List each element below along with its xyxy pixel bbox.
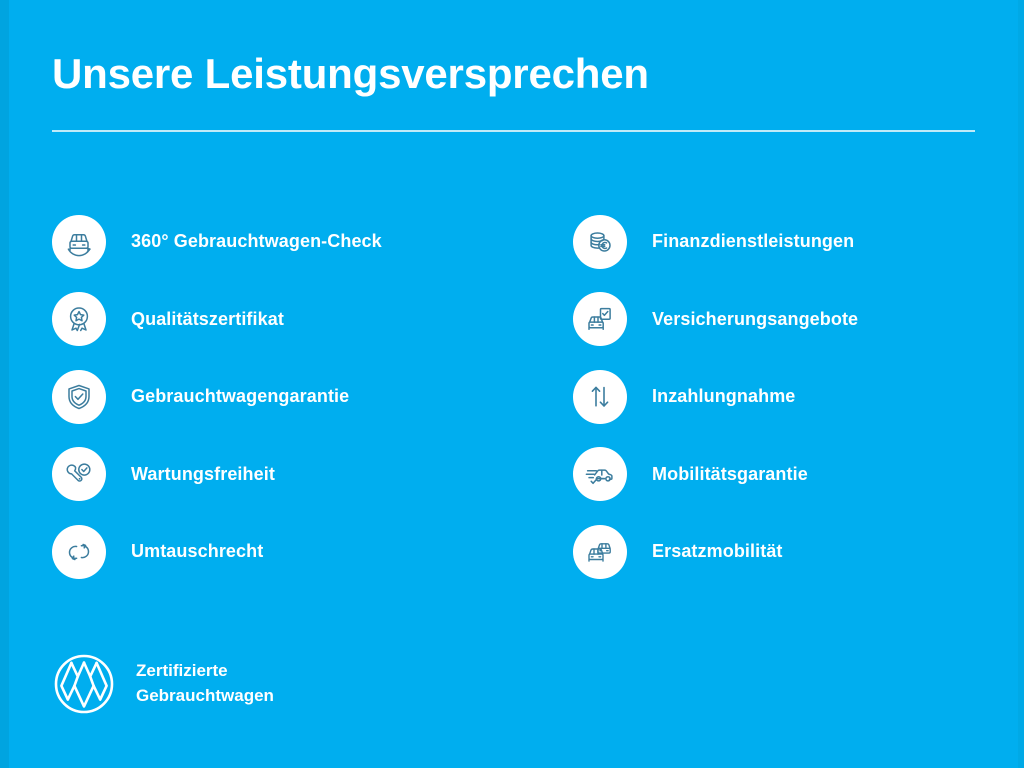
promise-label: Qualitätszertifikat xyxy=(131,309,284,330)
promise-label: Ersatzmobilität xyxy=(652,541,783,562)
promise-label: Finanzdienstleistungen xyxy=(652,231,854,252)
wrench-check-icon xyxy=(52,447,106,501)
volkswagen-logo xyxy=(52,652,116,716)
brand-text-line2: Gebrauchtwagen xyxy=(136,684,274,709)
promise-label: 360° Gebrauchtwagen-Check xyxy=(131,231,382,252)
two-cars-icon xyxy=(573,525,627,579)
promise-item-wartungsfreiheit[interactable]: Wartungsfreiheit xyxy=(52,436,482,514)
promise-column-left: 360° Gebrauchtwagen-Check Qualitätszerti… xyxy=(52,203,482,591)
promise-label: Wartungsfreiheit xyxy=(131,464,275,485)
promise-column-right: Finanzdienstleistungen Versicherungsange… xyxy=(573,203,1003,591)
car-document-check-icon xyxy=(573,292,627,346)
promise-label: Mobilitätsgarantie xyxy=(652,464,808,485)
promise-item-versicherungsangebote[interactable]: Versicherungsangebote xyxy=(573,281,1003,359)
promise-item-inzahlungnahme[interactable]: Inzahlungnahme xyxy=(573,358,1003,436)
promise-label: Versicherungsangebote xyxy=(652,309,858,330)
exchange-arrows-icon xyxy=(52,525,106,579)
brand-lockup: Zertifizierte Gebrauchtwagen xyxy=(52,652,274,716)
promise-item-qualitaetszertifikat[interactable]: Qualitätszertifikat xyxy=(52,281,482,359)
shield-check-icon xyxy=(52,370,106,424)
promise-label: Umtauschrecht xyxy=(131,541,263,562)
promise-item-umtauschrecht[interactable]: Umtauschrecht xyxy=(52,513,482,591)
promise-label: Gebrauchtwagengarantie xyxy=(131,386,349,407)
promise-item-mobilitaetsgarantie[interactable]: Mobilitätsgarantie xyxy=(573,436,1003,514)
car-speed-check-icon xyxy=(573,447,627,501)
brand-text: Zertifizierte Gebrauchtwagen xyxy=(136,659,274,708)
up-down-arrows-icon xyxy=(573,370,627,424)
brand-text-line1: Zertifizierte xyxy=(136,659,274,684)
promise-label: Inzahlungnahme xyxy=(652,386,795,407)
poster-canvas: Unsere Leistungsversprechen 360° xyxy=(0,0,1024,768)
car-360-check-icon xyxy=(52,215,106,269)
euro-coins-icon xyxy=(573,215,627,269)
quality-rosette-icon xyxy=(52,292,106,346)
promise-item-finanzdienstleistungen[interactable]: Finanzdienstleistungen xyxy=(573,203,1003,281)
promise-item-gebrauchtwagengarantie[interactable]: Gebrauchtwagengarantie xyxy=(52,358,482,436)
promise-item-ersatzmobilitaet[interactable]: Ersatzmobilität xyxy=(573,513,1003,591)
promise-item-gebrauchtwagen-check[interactable]: 360° Gebrauchtwagen-Check xyxy=(52,203,482,281)
